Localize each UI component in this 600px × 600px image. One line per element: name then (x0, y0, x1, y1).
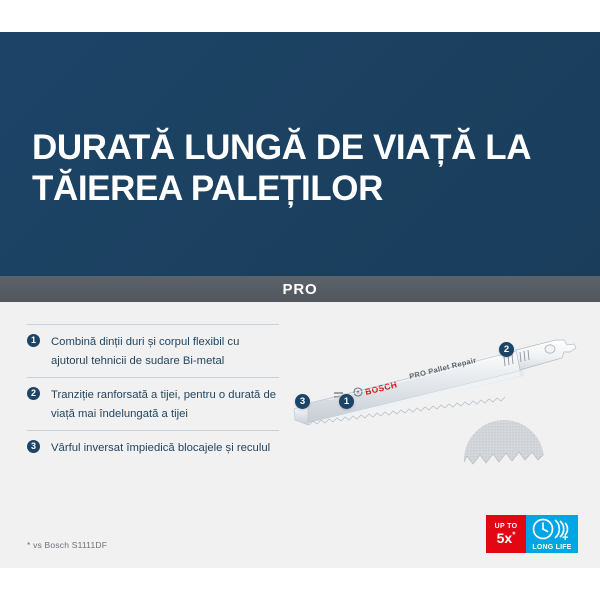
saw-blade-illustration: BOSCH PRO Pallet Repair 3 1 2 (288, 330, 600, 440)
pro-band-label: PRO (283, 281, 318, 298)
marketing-badges: UP TO 5x* + LONG LIFE (486, 515, 578, 553)
tooth-detail-magnifier (464, 420, 544, 500)
callout-badge-2: 2 (499, 342, 514, 357)
page-title: DURATĂ LUNGĂ DE VIAȚĂ LA TĂIEREA PALEȚIL… (32, 127, 552, 210)
up-to-number: 5x (497, 530, 513, 546)
content-area: 1 Combină dinții duri și corpul flexibil… (0, 302, 600, 568)
feature-number-badge: 2 (27, 387, 40, 400)
tooth-detail-icon (464, 420, 544, 500)
product-infographic: DURATĂ LUNGĂ DE VIAȚĂ LA TĂIEREA PALEȚIL… (0, 0, 600, 600)
list-item: 3 Vârful inversat împiedică blocajele și… (27, 430, 279, 465)
saw-blade-icon: BOSCH PRO Pallet Repair (288, 330, 600, 440)
footnote: * vs Bosch S1111DF (27, 540, 107, 550)
up-to-asterisk: * (512, 530, 515, 539)
callout-badge-1: 1 (339, 394, 354, 409)
list-item: 2 Tranziție ranforsată a tijei, pentru o… (27, 377, 279, 430)
callout-badge-3: 3 (295, 394, 310, 409)
up-to-label: UP TO (495, 523, 518, 530)
feature-number-badge: 3 (27, 440, 40, 453)
up-to-5x-badge: UP TO 5x* (486, 515, 526, 553)
plus-glyph: + (562, 532, 568, 544)
up-to-value: 5x* (497, 531, 516, 545)
long-life-label: LONG LIFE (526, 544, 578, 551)
list-item: 1 Combină dinții duri și corpul flexibil… (27, 324, 279, 377)
feature-list: 1 Combină dinții duri și corpul flexibil… (27, 324, 279, 465)
product-image-area: BOSCH PRO Pallet Repair 3 1 2 (288, 302, 600, 568)
long-life-badge: + LONG LIFE (526, 515, 578, 553)
hero-banner: DURATĂ LUNGĂ DE VIAȚĂ LA TĂIEREA PALEȚIL… (0, 32, 600, 276)
feature-text: Tranziție ranforsată a tijei, pentru o d… (51, 389, 276, 420)
feature-number-badge: 1 (27, 334, 40, 347)
clock-icon: + (526, 515, 578, 545)
feature-text: Vârful inversat împiedică blocajele și r… (51, 442, 270, 454)
feature-text: Combină dinții duri și corpul flexibil c… (51, 336, 239, 367)
pro-band: PRO (0, 276, 600, 302)
